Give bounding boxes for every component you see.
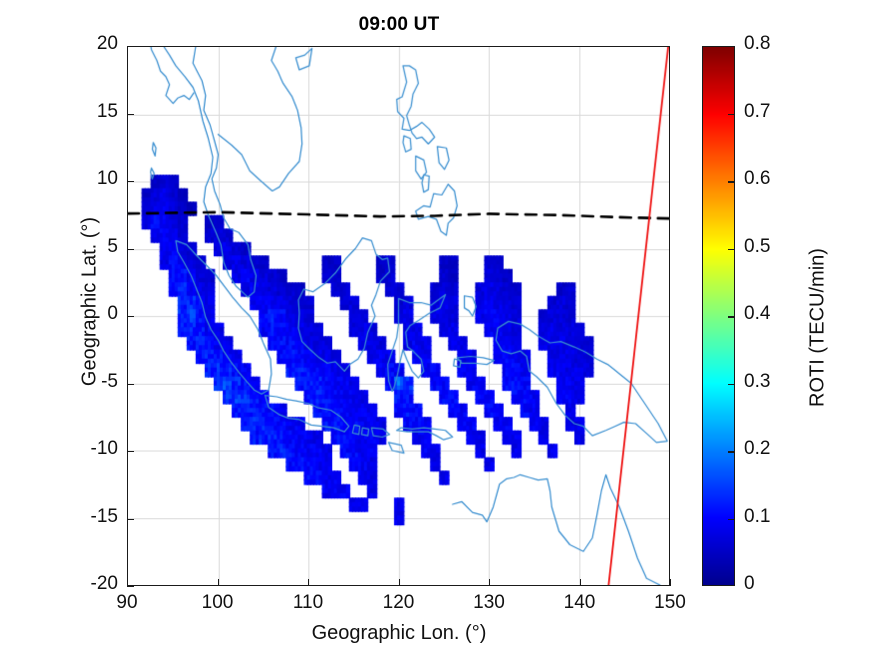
- colorbar-tick-mark: [728, 451, 735, 453]
- colorbar-tick-label: 0.5: [744, 236, 770, 258]
- x-axis-label: Geographic Lon. (°): [127, 622, 671, 645]
- y-tick-label: -15: [91, 506, 118, 528]
- colorbar-tick-mark: [728, 181, 735, 183]
- y-tick-label: 5: [107, 236, 118, 258]
- colorbar-tick-mark: [728, 316, 735, 318]
- colorbar-tick-label: 0.2: [744, 438, 770, 460]
- x-tick-mark: [218, 579, 219, 586]
- x-tick-label: 120: [359, 592, 439, 614]
- colorbar-tick-mark: [728, 249, 735, 251]
- x-tick-mark: [670, 579, 671, 586]
- x-tick-label: 150: [630, 592, 710, 614]
- colorbar-tick-mark: [728, 114, 735, 116]
- y-tick-mark: [127, 181, 134, 182]
- y-tick-mark: [127, 46, 134, 47]
- map-axes[interactable]: [127, 46, 670, 586]
- colorbar-tick-label: 0.8: [744, 33, 770, 55]
- x-tick-label: 90: [87, 592, 167, 614]
- y-tick-mark: [127, 586, 134, 587]
- y-tick-label: 20: [97, 33, 118, 55]
- x-tick-label: 140: [540, 592, 620, 614]
- x-tick-mark: [308, 579, 309, 586]
- figure-title: 09:00 UT: [127, 14, 671, 36]
- y-axis-label: Geographic Lat. (°): [79, 152, 102, 452]
- x-tick-label: 130: [449, 592, 529, 614]
- y-tick-mark: [127, 249, 134, 250]
- colorbar-tick-label: 0: [744, 573, 755, 595]
- roti-heatmap-canvas[interactable]: [128, 47, 669, 585]
- y-tick-mark: [127, 451, 134, 452]
- y-tick-mark: [127, 316, 134, 317]
- colorbar-tick-mark: [728, 519, 735, 521]
- colorbar-tick-label: 0.3: [744, 371, 770, 393]
- colorbar-label: ROTI (TECU/min): [807, 178, 830, 478]
- y-tick-mark: [127, 519, 134, 520]
- colorbar-tick-label: 0.6: [744, 168, 770, 190]
- x-tick-mark: [127, 579, 128, 586]
- x-tick-label: 100: [178, 592, 258, 614]
- y-tick-mark: [127, 384, 134, 385]
- y-tick-label: 0: [107, 303, 118, 325]
- colorbar-tick-label: 0.4: [744, 303, 770, 325]
- colorbar-tick-label: 0.1: [744, 506, 770, 528]
- y-tick-mark: [127, 114, 134, 115]
- x-tick-mark: [489, 579, 490, 586]
- roti-map-figure: 09:00 UT 20151050-5-10-15-20901001101201…: [0, 0, 875, 659]
- y-tick-label: 15: [97, 101, 118, 123]
- colorbar-tick-label: 0.7: [744, 101, 770, 123]
- y-tick-label: -5: [101, 371, 118, 393]
- colorbar-tick-mark: [728, 384, 735, 386]
- x-tick-mark: [399, 579, 400, 586]
- x-tick-mark: [580, 579, 581, 586]
- x-tick-label: 110: [268, 592, 348, 614]
